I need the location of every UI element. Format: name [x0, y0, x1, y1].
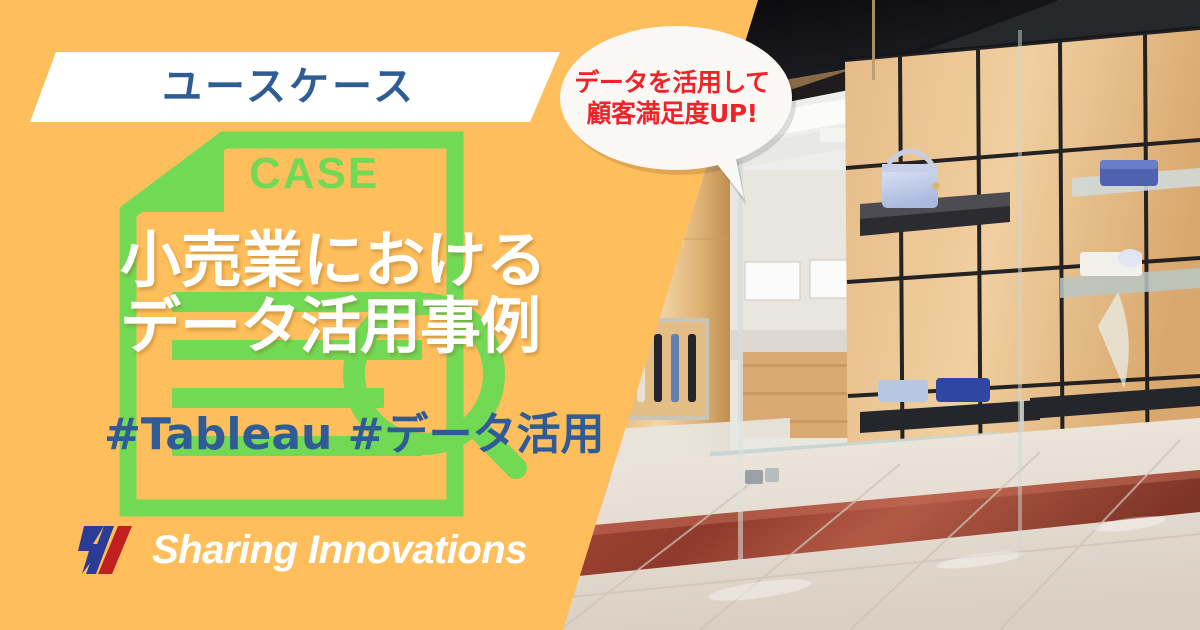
headline-line-2: データ活用事例 — [120, 294, 600, 360]
hashtag-list: #Tableau #データ活用 — [104, 413, 605, 457]
speech-bubble-text: データを活用して 顧客満足度UP! — [556, 68, 788, 129]
usecase-banner: ユースケース — [30, 52, 560, 122]
page-title: 小売業における データ活用事例 — [120, 228, 600, 360]
company-logo-text: Sharing Innovations — [152, 530, 527, 570]
bubble-line-1: データを活用して — [556, 68, 788, 99]
company-logo: Sharing Innovations — [70, 524, 527, 576]
hero-banner-card: ユースケース CASE 小売業における データ活用事例 #Tableau #デー… — [0, 0, 1200, 630]
usecase-banner-label: ユースケース — [162, 67, 416, 107]
headline-line-1: 小売業における — [120, 228, 600, 294]
speech-bubble: データを活用して 顧客満足度UP! — [556, 20, 806, 210]
case-label: CASE — [249, 152, 449, 196]
bubble-line-2: 顧客満足度UP! — [556, 99, 788, 130]
sharing-innovations-mark-icon — [70, 524, 136, 576]
